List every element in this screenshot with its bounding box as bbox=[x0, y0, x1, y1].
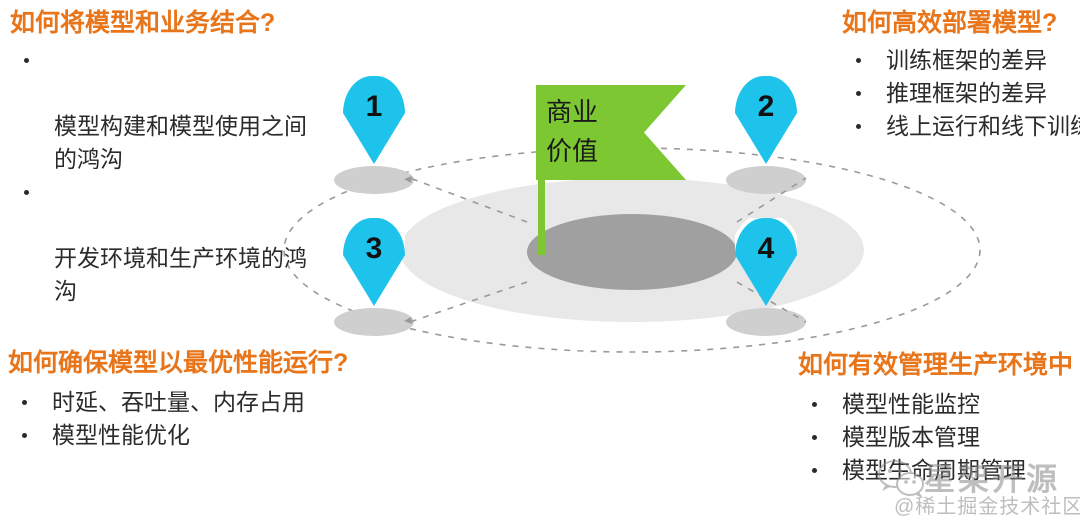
bullet-item: 开发环境和生产环境的鸿 沟 bbox=[10, 176, 430, 308]
connector-arrow-3 bbox=[404, 317, 412, 324]
bullet-dot-icon bbox=[812, 468, 817, 473]
bullet-dot-icon bbox=[856, 58, 861, 63]
map-pin-2[interactable]: 2 bbox=[735, 76, 797, 164]
bullet-dot-icon bbox=[812, 402, 817, 407]
bullet-text: 模型性能监控 bbox=[842, 391, 980, 417]
bullet-item: 模型构建和模型使用之间 的鸿沟 bbox=[10, 44, 430, 176]
inner-ellipse bbox=[527, 214, 737, 290]
bullet-dot-icon bbox=[22, 433, 27, 438]
quadrant-heading: 如何高效部署模型? bbox=[842, 8, 1080, 38]
bullet-item: 训练框架的差异 bbox=[842, 44, 1080, 77]
pin-number: 2 bbox=[735, 92, 797, 122]
bullet-item: 推理框架的差异 bbox=[842, 77, 1080, 110]
pin-shadow-3 bbox=[334, 308, 414, 336]
bullet-text: 模型构建和模型使用之间 的鸿沟 bbox=[54, 113, 307, 172]
quadrant-top-right: 如何高效部署模型? 训练框架的差异 推理框架的差异 线上运行和线下训练 bbox=[842, 8, 1080, 143]
quadrant-heading: 如何将模型和业务结合? bbox=[10, 8, 430, 38]
flag-label: 商业 价值 bbox=[546, 93, 598, 171]
bullet-text: 模型版本管理 bbox=[842, 424, 980, 450]
quadrant-top-left: 如何将模型和业务结合? 模型构建和模型使用之间 的鸿沟 开发环境和生产环境的鸿 … bbox=[10, 8, 430, 308]
quadrant-bullet-list: 模型构建和模型使用之间 的鸿沟 开发环境和生产环境的鸿 沟 bbox=[10, 44, 430, 308]
watermark: 星架开源 @稀土掘金技术社区 bbox=[858, 452, 1080, 526]
bullet-item: 模型性能监控 bbox=[798, 388, 1080, 421]
quadrant-bullet-list: 时延、吞吐量、内存占用 模型性能优化 bbox=[8, 386, 448, 452]
slide-canvas: 商业 价值 1 2 3 4 如何将模型和业务结合? 模型构建和模型使用之间 的鸿… bbox=[0, 0, 1080, 526]
bullet-dot-icon bbox=[856, 91, 861, 96]
map-pin-4[interactable]: 4 bbox=[735, 218, 797, 306]
bullet-text: 线上运行和线下训练 bbox=[886, 113, 1080, 139]
pin-shadow-2 bbox=[726, 166, 806, 194]
bullet-text: 训练框架的差异 bbox=[886, 47, 1047, 73]
bullet-item: 时延、吞吐量、内存占用 bbox=[8, 386, 448, 419]
bullet-text: 推理框架的差异 bbox=[886, 80, 1047, 106]
bullet-item: 线上运行和线下训练 bbox=[842, 110, 1080, 143]
bullet-dot-icon bbox=[22, 400, 27, 405]
quadrant-bullet-list: 训练框架的差异 推理框架的差异 线上运行和线下训练 bbox=[842, 44, 1080, 143]
bullet-dot-icon bbox=[856, 124, 861, 129]
bullet-item: 模型性能优化 bbox=[8, 419, 448, 452]
bullet-text: 模型性能优化 bbox=[52, 422, 190, 448]
quadrant-heading: 如何确保模型以最优性能运行? bbox=[8, 348, 448, 378]
quadrant-heading: 如何有效管理生产环境中 bbox=[798, 350, 1080, 380]
bullet-dot-icon bbox=[24, 58, 29, 63]
bullet-dot-icon bbox=[24, 190, 29, 195]
pin-number: 4 bbox=[735, 234, 797, 264]
pin-shadow-4 bbox=[726, 308, 806, 336]
bullet-text: 开发环境和生产环境的鸿 沟 bbox=[54, 245, 307, 304]
bullet-dot-icon bbox=[812, 435, 817, 440]
bullet-item: 模型版本管理 bbox=[798, 421, 1080, 454]
bullet-text: 时延、吞吐量、内存占用 bbox=[52, 389, 305, 415]
quadrant-bottom-left: 如何确保模型以最优性能运行? 时延、吞吐量、内存占用 模型性能优化 bbox=[8, 348, 448, 452]
connector-center-to-pin-2 bbox=[737, 178, 806, 222]
watermark-handle: @稀土掘金技术社区 bbox=[894, 490, 1080, 519]
business-value-flag: 商业 价值 bbox=[536, 85, 686, 180]
